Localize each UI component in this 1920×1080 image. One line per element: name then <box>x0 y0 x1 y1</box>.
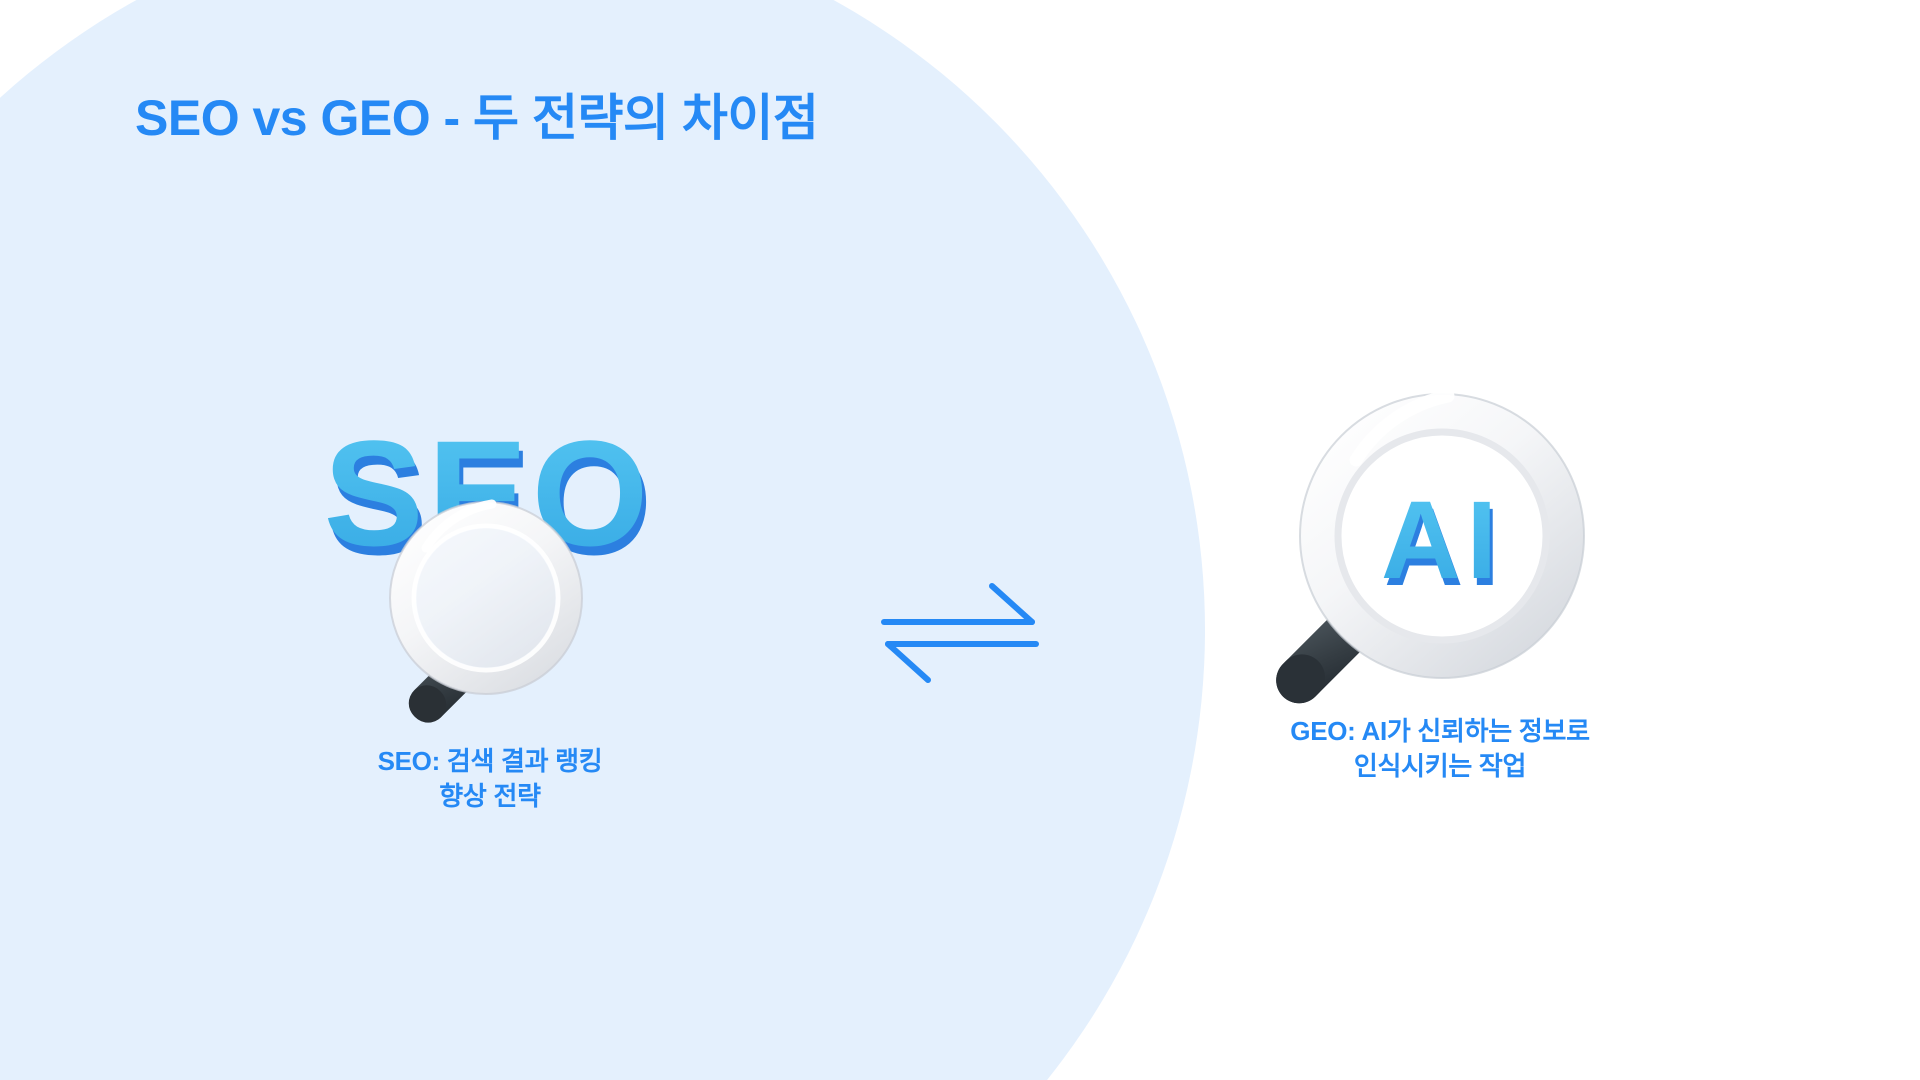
bidirectional-exchange-arrows-icon <box>880 580 1040 690</box>
magnifier-lens-ring <box>390 502 582 694</box>
svg-text:AI: AI <box>1381 479 1503 602</box>
comparison-panel-geo: AI AI GEO: AI가 신뢰하는 정보로 인식시키는 작업 <box>1180 340 1700 784</box>
slide-canvas: SEO vs GEO - 두 전략의 차이점 <box>0 0 1920 1080</box>
comparison-panel-seo: SEO SEO SEO: 검색 결과 랭킹 <box>230 370 750 814</box>
page-title: SEO vs GEO - 두 전략의 차이점 <box>135 90 818 148</box>
seo-caption-line-2: 향상 전략 <box>230 779 750 814</box>
seo-caption: SEO: 검색 결과 랭킹 향상 전략 <box>230 744 750 814</box>
ai-3d-letters: AI AI <box>1381 479 1506 609</box>
seo-magnifier-3d-icon: SEO SEO <box>230 370 750 730</box>
geo-caption-line-2: 인식시키는 작업 <box>1180 749 1700 784</box>
seo-caption-line-1: SEO: 검색 결과 랭킹 <box>230 744 750 779</box>
ai-magnifier-3d-icon: AI AI <box>1180 340 1700 700</box>
